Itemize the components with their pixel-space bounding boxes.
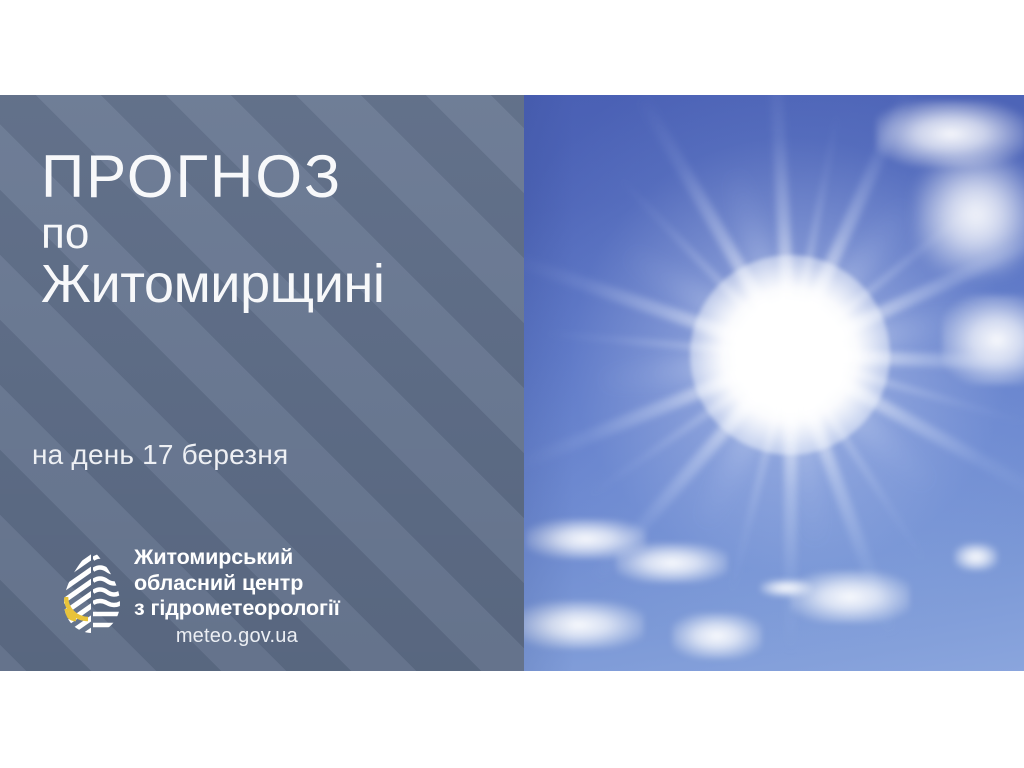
- droplet-leaf-hydrometeorology-icon: [62, 547, 122, 635]
- weather-forecast-banner: ПРОГНОЗ по Житомирщині на день 17 березн…: [0, 95, 1024, 671]
- organisation-logo-lockup: Житомирський обласний центр з гідрометео…: [62, 543, 340, 648]
- info-panel: ПРОГНОЗ по Житомирщині на день 17 березн…: [0, 95, 524, 671]
- headline-preposition: по: [41, 210, 511, 258]
- organisation-website-url[interactable]: meteo.gov.ua: [134, 624, 340, 648]
- organisation-name-line-1: Житомирський: [134, 545, 340, 571]
- headline-forecast: ПРОГНОЗ: [41, 147, 511, 207]
- organisation-name-line-3: з гідрометеорології: [134, 596, 340, 622]
- forecast-date-subtitle: на день 17 березня: [32, 439, 288, 471]
- organisation-name-block: Житомирський обласний центр з гідрометео…: [134, 543, 340, 648]
- headline-region: Житомирщині: [41, 256, 511, 312]
- sunny-sky-photo: [524, 95, 1024, 671]
- photo-edge-shading: [524, 95, 1024, 671]
- headline-block: ПРОГНОЗ по Житомирщині: [41, 147, 511, 312]
- poster-canvas: ПРОГНОЗ по Житомирщині на день 17 березн…: [0, 0, 1024, 768]
- organisation-name-line-2: обласний центр: [134, 571, 340, 597]
